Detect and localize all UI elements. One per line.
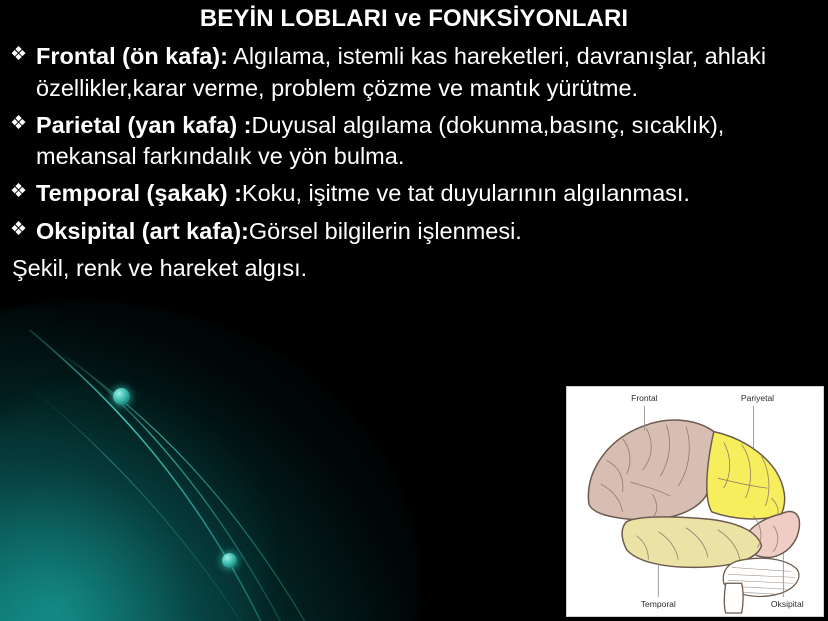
swirl-arcs-graphic bbox=[0, 330, 430, 621]
list-item-head: Frontal (ön kafa): bbox=[36, 43, 228, 69]
brain-illustration-icon: Frontal Pariyetal Temporal Oksipital bbox=[567, 387, 823, 616]
list-item: ❖Temporal (şakak) :Koku, işitme ve tat d… bbox=[10, 178, 820, 209]
bullet-list: ❖Frontal (ön kafa): Algılama, istemli ka… bbox=[0, 41, 828, 284]
list-item-head: Temporal (şakak) : bbox=[36, 180, 242, 206]
brain-label-temporal: Temporal bbox=[641, 599, 676, 609]
slide-content: BEYİN LOBLARI ve FONKSİYONLARI ❖Frontal … bbox=[0, 0, 828, 284]
glow-dot-lower bbox=[222, 553, 237, 568]
list-item-head: Oksipital (art kafa): bbox=[36, 218, 249, 244]
diamond-bullet-icon: ❖ bbox=[10, 217, 27, 244]
list-item-head: Parietal (yan kafa) : bbox=[36, 112, 252, 138]
diamond-bullet-icon: ❖ bbox=[10, 179, 27, 206]
diamond-bullet-icon: ❖ bbox=[10, 111, 27, 138]
brain-label-frontal: Frontal bbox=[631, 393, 658, 403]
teal-glow-highlight bbox=[0, 381, 270, 621]
diamond-bullet-icon: ❖ bbox=[10, 42, 27, 69]
brain-label-pariyetal: Pariyetal bbox=[741, 393, 774, 403]
trailing-text-line: Şekil, renk ve hareket algısı. bbox=[10, 253, 820, 284]
brain-stem-shape bbox=[724, 583, 743, 613]
list-item: ❖Parietal (yan kafa) :Duyusal algılama (… bbox=[10, 110, 820, 173]
slide-canvas: BEYİN LOBLARI ve FONKSİYONLARI ❖Frontal … bbox=[0, 0, 828, 621]
list-item-body: Koku, işitme ve tat duyularının algılanm… bbox=[242, 180, 690, 206]
teal-glow-shape bbox=[0, 301, 420, 621]
brain-lobes-diagram: Frontal Pariyetal Temporal Oksipital bbox=[566, 386, 824, 617]
list-item-body: Görsel bilgilerin işlenmesi. bbox=[249, 218, 522, 244]
glow-dot-upper bbox=[113, 388, 130, 405]
brain-label-oksipital: Oksipital bbox=[771, 599, 804, 609]
page-title: BEYİN LOBLARI ve FONKSİYONLARI bbox=[0, 0, 828, 32]
list-item: ❖Frontal (ön kafa): Algılama, istemli ka… bbox=[10, 41, 820, 104]
list-item: ❖Oksipital (art kafa):Görsel bilgilerin … bbox=[10, 216, 820, 247]
